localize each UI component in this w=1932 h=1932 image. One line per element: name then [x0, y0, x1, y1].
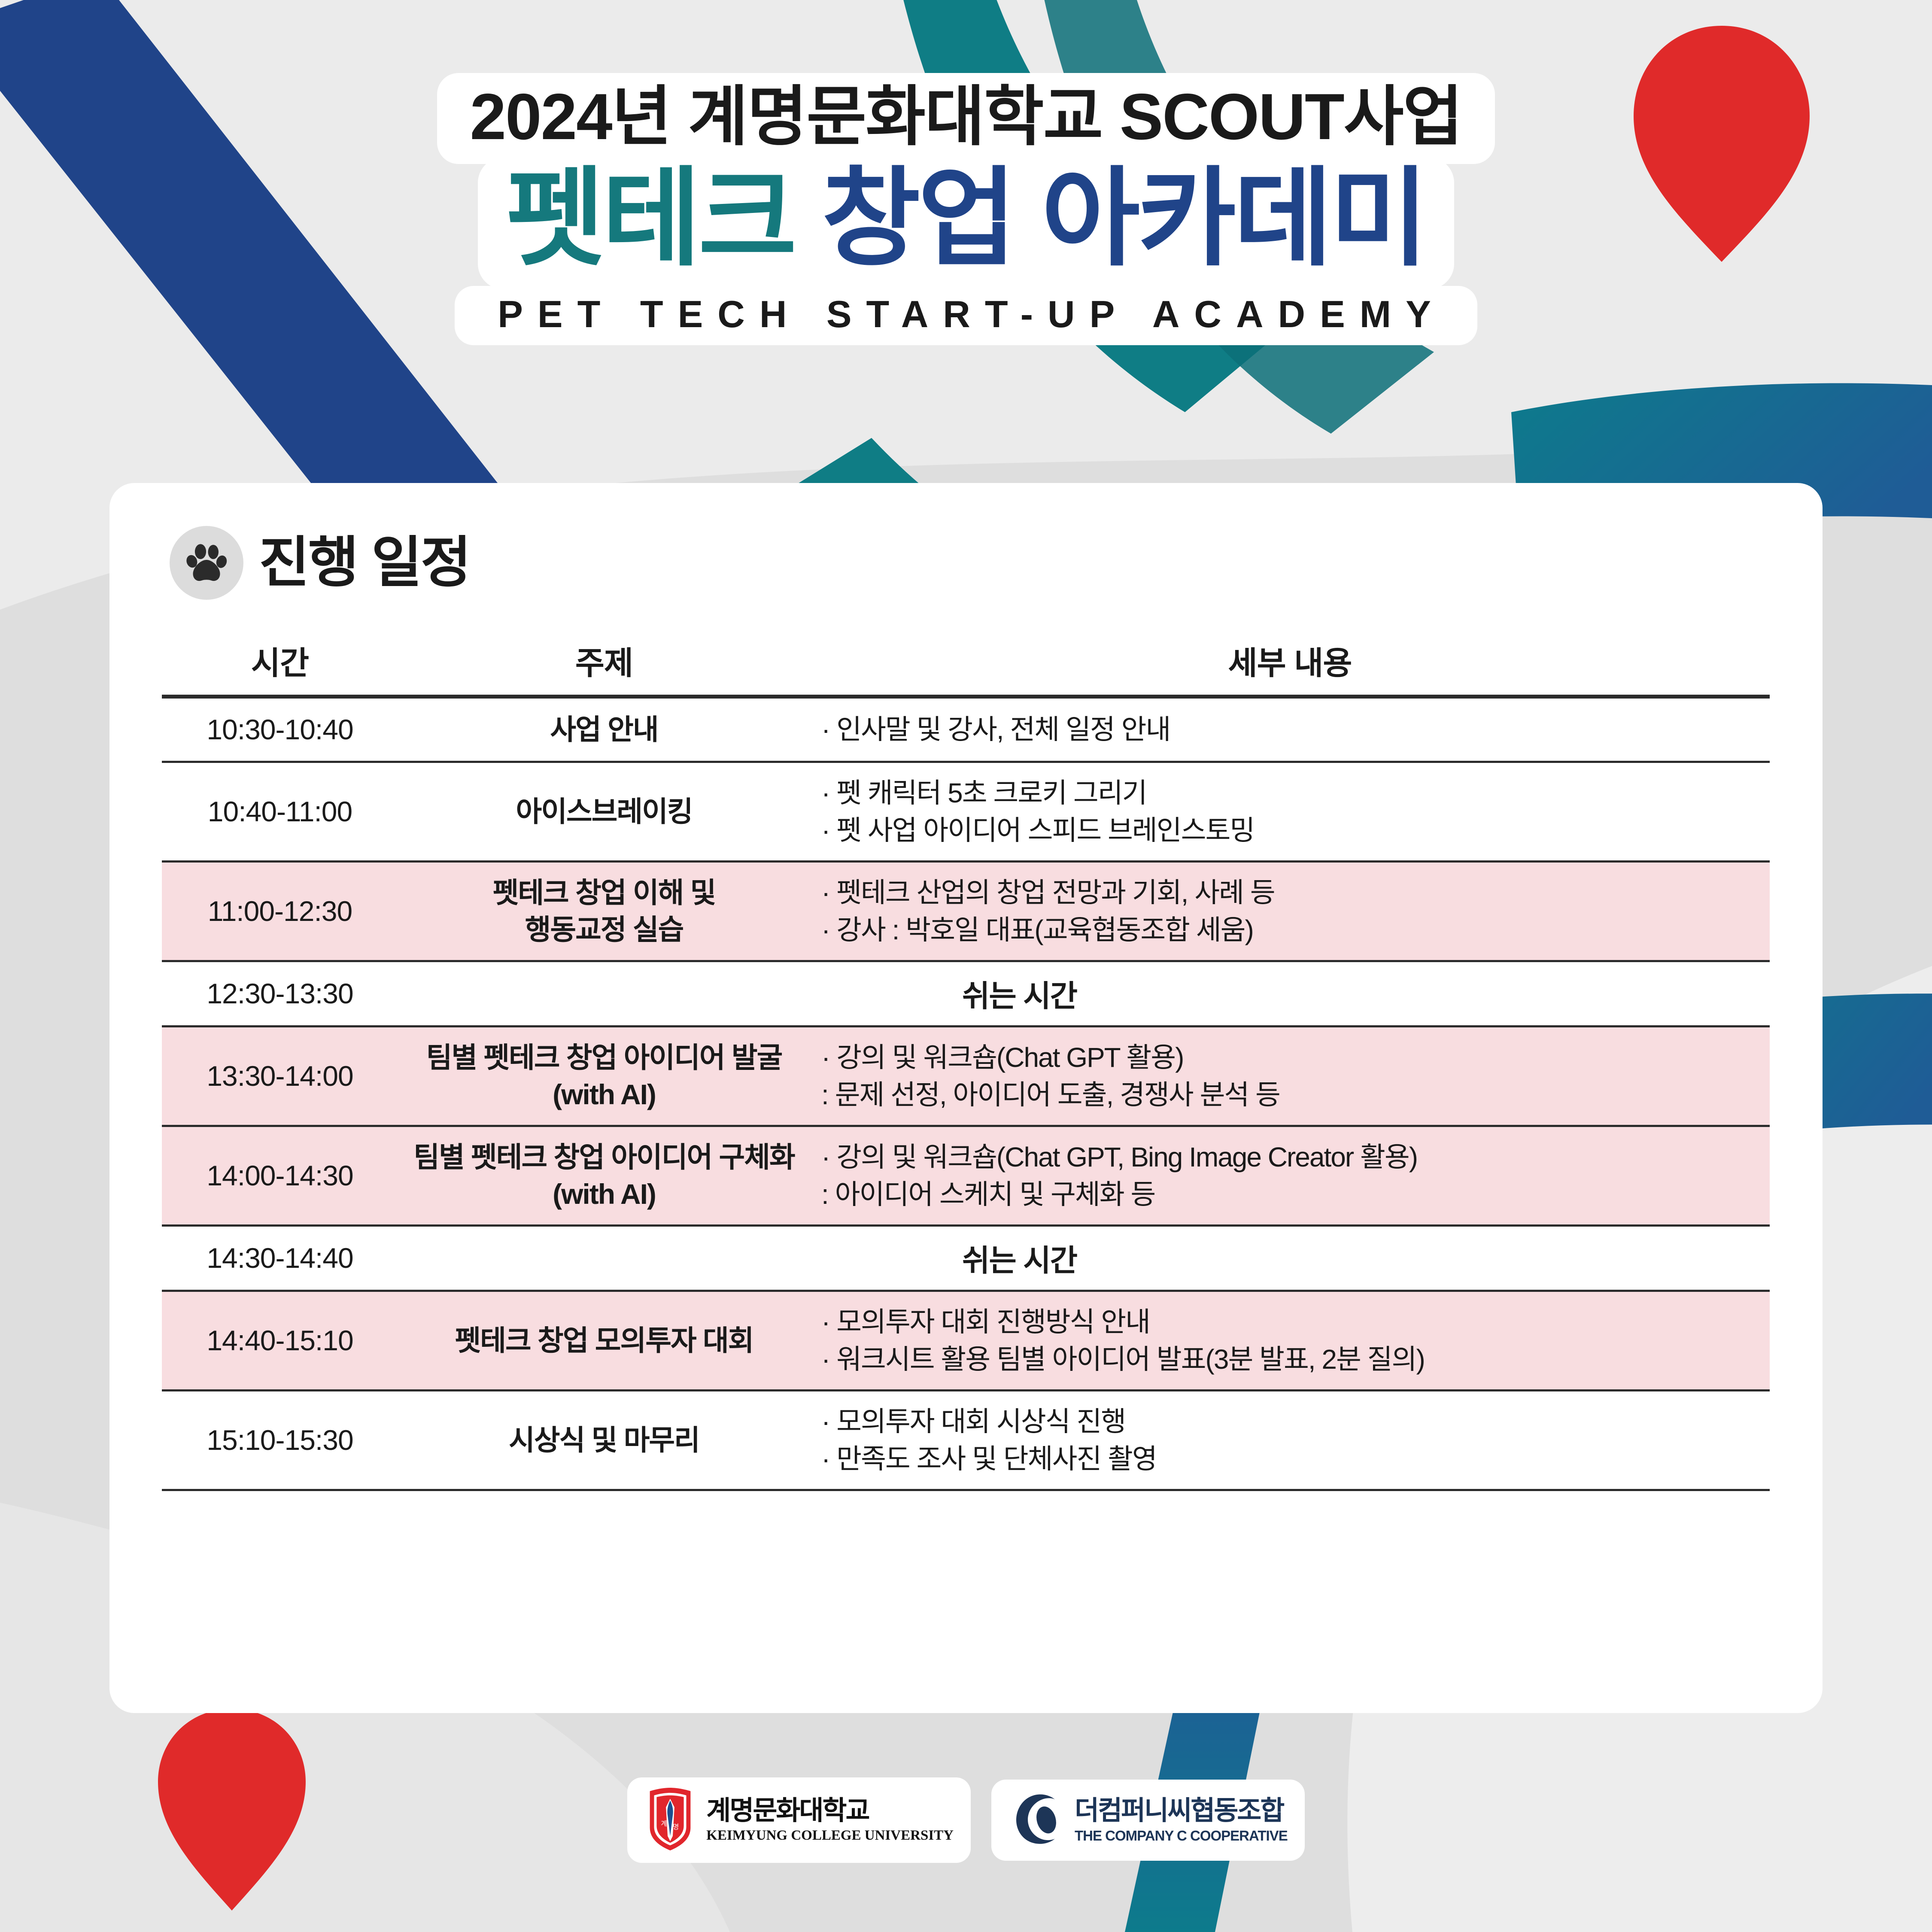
table-row: 13:30-14:00팀별 펫테크 창업 아이디어 발굴(with AI)· 강… — [162, 1027, 1770, 1127]
cell-time: 14:30-14:40 — [162, 1240, 398, 1276]
column-header-time: 시간 — [162, 638, 398, 683]
cell-break-label: 쉬는 시간 — [398, 972, 1770, 1015]
topic-line: 시상식 및 마무리 — [398, 1422, 810, 1459]
svg-text:계: 계 — [661, 1820, 668, 1828]
cell-detail: · 펫테크 산업의 창업 전망과 기회, 사례 등· 강사 : 박호일 대표(교… — [810, 874, 1770, 948]
cell-time: 12:30-13:30 — [162, 976, 398, 1012]
topic-line: 펫테크 창업 이해 및 — [398, 875, 810, 911]
topic-line: (with AI) — [398, 1076, 810, 1113]
cell-time: 11:00-12:30 — [162, 893, 398, 929]
table-row: 14:30-14:40쉬는 시간 — [162, 1227, 1770, 1292]
topic-line: 사업 안내 — [398, 711, 810, 748]
cell-detail: · 모의투자 대회 시상식 진행· 만족도 조사 및 단체사진 촬영 — [810, 1403, 1770, 1477]
cell-detail: · 강의 및 워크숍(Chat GPT 활용) : 문제 선정, 아이디어 도출… — [810, 1039, 1770, 1113]
detail-line: · 모의투자 대회 시상식 진행 — [821, 1403, 1770, 1440]
table-row: 15:10-15:30시상식 및 마무리· 모의투자 대회 시상식 진행· 만족… — [162, 1391, 1770, 1491]
detail-line: · 모의투자 대회 진행방식 안내 — [821, 1303, 1770, 1340]
svg-text:명: 명 — [673, 1823, 679, 1831]
topic-line: 아이스브레이킹 — [398, 793, 810, 830]
detail-line: · 만족도 조사 및 단체사진 촬영 — [821, 1440, 1770, 1477]
section-title: 진행 일정 — [259, 535, 470, 590]
detail-line: · 인사말 및 강사, 전체 일정 안내 — [821, 711, 1770, 748]
logo-keimyung: 계 명 계명문화대학교 KEIMYUNG COLLEGE UNIVERSITY — [627, 1777, 971, 1863]
cell-time: 10:30-10:40 — [162, 712, 398, 747]
footer-logos: 계 명 계명문화대학교 KEIMYUNG COLLEGE UNIVERSITY … — [0, 1777, 1932, 1863]
cell-topic: 사업 안내 — [398, 711, 810, 748]
cell-break-label: 쉬는 시간 — [398, 1236, 1770, 1280]
topic-line: 팀별 펫테크 창업 아이디어 구체화 — [398, 1139, 810, 1176]
logo-keimyung-ko: 계명문화대학교 — [706, 1798, 954, 1824]
topic-line: (with AI) — [398, 1176, 810, 1213]
table-row: 12:30-13:30쉬는 시간 — [162, 962, 1770, 1027]
title-line-1: 2024년 계명문화대학교 SCOUT사업 — [437, 73, 1495, 164]
cell-topic: 팀별 펫테크 창업 아이디어 구체화(with AI) — [398, 1139, 810, 1213]
company-c-emblem — [1009, 1789, 1064, 1851]
table-row: 14:40-15:10펫테크 창업 모의투자 대회· 모의투자 대회 진행방식 … — [162, 1292, 1770, 1391]
title-teal-word: 펫테크 — [506, 158, 795, 278]
cell-topic: 펫테크 창업 모의투자 대회 — [398, 1322, 810, 1359]
column-header-detail: 세부 내용 — [810, 638, 1770, 683]
cell-time: 13:30-14:00 — [162, 1058, 398, 1094]
table-row: 14:00-14:30팀별 펫테크 창업 아이디어 구체화(with AI)· … — [162, 1127, 1770, 1227]
cell-detail: · 펫 캐릭터 5초 크로키 그리기· 펫 사업 아이디어 스피드 브레인스토밍 — [810, 775, 1770, 849]
detail-line: · 펫테크 산업의 창업 전망과 기회, 사례 등 — [821, 874, 1770, 911]
logo-company-c-en: THE COMPANY C COOPERATIVE — [1075, 1829, 1288, 1843]
cell-time: 14:00-14:30 — [162, 1158, 398, 1194]
logo-company-c-text: 더컴퍼니씨협동조합 THE COMPANY C COOPERATIVE — [1075, 1798, 1288, 1843]
section-header: 진행 일정 — [170, 526, 470, 600]
cell-detail: · 인사말 및 강사, 전체 일정 안내 — [810, 711, 1770, 748]
cell-time: 10:40-11:00 — [162, 794, 398, 829]
schedule-card: 진행 일정 시간 주제 세부 내용 10:30-10:40사업 안내· 인사말 … — [109, 483, 1823, 1713]
title-block: 2024년 계명문화대학교 SCOUT사업 펫테크 창업 아카데미 PET TE… — [0, 73, 1932, 345]
table-row: 10:40-11:00아이스브레이킹· 펫 캐릭터 5초 크로키 그리기· 펫 … — [162, 763, 1770, 863]
table-row: 10:30-10:40사업 안내· 인사말 및 강사, 전체 일정 안내 — [162, 699, 1770, 763]
table-header-row: 시간 주제 세부 내용 — [162, 638, 1770, 695]
logo-keimyung-text: 계명문화대학교 KEIMYUNG COLLEGE UNIVERSITY — [706, 1798, 954, 1843]
title-line-3: PET TECH START-UP ACADEMY — [455, 286, 1477, 345]
detail-line: · 펫 사업 아이디어 스피드 브레인스토밍 — [821, 812, 1770, 849]
logo-company-c-ko: 더컴퍼니씨협동조합 — [1075, 1798, 1288, 1824]
logo-company-c: 더컴퍼니씨협동조합 THE COMPANY C COOPERATIVE — [991, 1780, 1305, 1861]
keimyung-shield-emblem: 계 명 — [644, 1787, 696, 1853]
cell-topic: 펫테크 창업 이해 및행동교정 실습 — [398, 875, 810, 948]
detail-line: · 강사 : 박호일 대표(교육협동조합 세움) — [821, 911, 1770, 948]
poster-root: 2024년 계명문화대학교 SCOUT사업 펫테크 창업 아카데미 PET TE… — [0, 0, 1932, 1932]
topic-line: 펫테크 창업 모의투자 대회 — [398, 1322, 810, 1359]
column-header-topic: 주제 — [398, 638, 810, 683]
cell-detail: · 모의투자 대회 진행방식 안내· 워크시트 활용 팀별 아이디어 발표(3분… — [810, 1303, 1770, 1378]
cell-topic: 아이스브레이킹 — [398, 793, 810, 830]
title-blue-word: 창업 아카데미 — [822, 158, 1426, 278]
title-line-2: 펫테크 창업 아카데미 — [478, 157, 1455, 289]
cell-topic: 팀별 펫테크 창업 아이디어 발굴(with AI) — [398, 1039, 810, 1113]
detail-line: : 문제 선정, 아이디어 도출, 경쟁사 분석 등 — [821, 1076, 1770, 1113]
topic-line: 행동교정 실습 — [398, 911, 810, 948]
cell-detail: · 강의 및 워크숍(Chat GPT, Bing Image Creator … — [810, 1139, 1770, 1213]
detail-line: · 펫 캐릭터 5초 크로키 그리기 — [821, 775, 1770, 811]
table-body: 10:30-10:40사업 안내· 인사말 및 강사, 전체 일정 안내10:4… — [162, 695, 1770, 1491]
detail-line: · 워크시트 활용 팀별 아이디어 발표(3분 발표, 2분 질의) — [821, 1341, 1770, 1378]
detail-line: : 아이디어 스케치 및 구체화 등 — [821, 1176, 1770, 1213]
cell-topic: 시상식 및 마무리 — [398, 1422, 810, 1459]
cell-time: 15:10-15:30 — [162, 1422, 398, 1458]
schedule-table: 시간 주제 세부 내용 10:30-10:40사업 안내· 인사말 및 강사, … — [162, 638, 1770, 1491]
cell-time: 14:40-15:10 — [162, 1323, 398, 1358]
paw-icon — [170, 526, 243, 600]
detail-line: · 강의 및 워크숍(Chat GPT 활용) — [821, 1039, 1770, 1076]
table-row: 11:00-12:30펫테크 창업 이해 및행동교정 실습· 펫테크 산업의 창… — [162, 863, 1770, 962]
detail-line: · 강의 및 워크숍(Chat GPT, Bing Image Creator … — [821, 1139, 1770, 1176]
logo-keimyung-en: KEIMYUNG COLLEGE UNIVERSITY — [706, 1829, 954, 1843]
topic-line: 팀별 펫테크 창업 아이디어 발굴 — [398, 1039, 810, 1076]
